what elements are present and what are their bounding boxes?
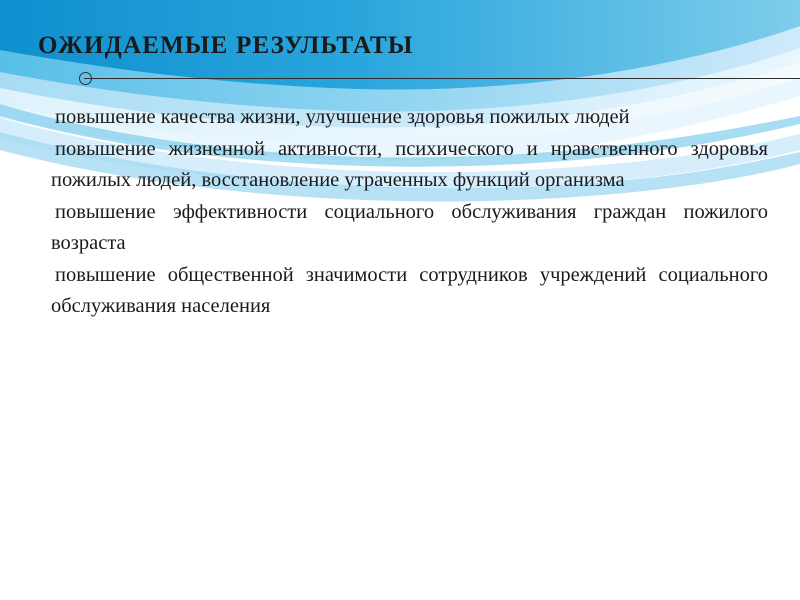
list-item: повышение общественной значимости сотруд…	[32, 260, 768, 322]
list-item-text: повышение общественной значимости сотруд…	[51, 260, 768, 322]
list-item: повышение жизненной активности, психичес…	[32, 134, 768, 196]
list-item: повышение качества жизни, улучшение здор…	[32, 102, 768, 133]
list-item: повышение эффективности социального обсл…	[32, 197, 768, 259]
list-item-text: повышение эффективности социального обсл…	[51, 197, 768, 259]
bullet-list: повышение качества жизни, улучшение здор…	[32, 102, 768, 323]
title-divider	[84, 78, 800, 79]
list-item-text: повышение жизненной активности, психичес…	[51, 134, 768, 196]
slide: ОЖИДАЕМЫЕ РЕЗУЛЬТАТЫ повышение качества …	[0, 0, 800, 600]
list-item-text: повышение качества жизни, улучшение здор…	[51, 102, 768, 133]
page-title: ОЖИДАЕМЫЕ РЕЗУЛЬТАТЫ	[38, 32, 414, 60]
